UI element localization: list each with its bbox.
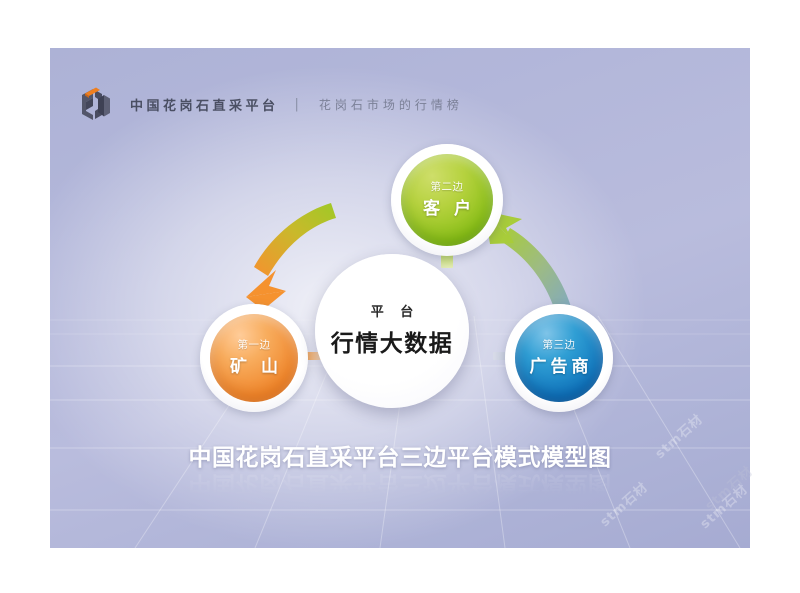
screenshot-canvas: 中国花岗石直采平台 | 花岗石市场的行情榜 [0,0,800,593]
node-platform-center[interactable]: 平 台 行情大数据 [315,254,469,408]
arrow-advertiser-to-customer [485,211,572,314]
node-customer-side-label: 第二边 [431,182,464,193]
node-mine-side-label: 第一边 [238,340,271,351]
arrow-customer-to-mine [246,203,336,310]
node-mine[interactable]: 第一边 矿 山 [210,314,298,402]
node-mine-title: 矿 山 [226,359,282,376]
node-customer-title: 客 户 [419,201,475,218]
slide-caption-text: 中国花岗石直采平台三边平台模式模型图 [50,446,750,470]
node-customer[interactable]: 第二边 客 户 [401,154,493,246]
node-platform-title: 行情大数据 [331,333,454,356]
slide-caption-reflection: 中国花岗石直采平台三边平台模式模型图 [50,472,750,496]
node-advertiser-title: 广告商 [526,359,593,376]
node-platform-label: 平 台 [365,306,420,319]
slide-surface: 中国花岗石直采平台 | 花岗石市场的行情榜 [50,48,750,548]
node-advertiser[interactable]: 第三边 广告商 [515,314,603,402]
node-advertiser-side-label: 第三边 [543,340,576,351]
slide-caption: 中国花岗石直采平台三边平台模式模型图 中国花岗石直采平台三边平台模式模型图 [50,446,750,496]
